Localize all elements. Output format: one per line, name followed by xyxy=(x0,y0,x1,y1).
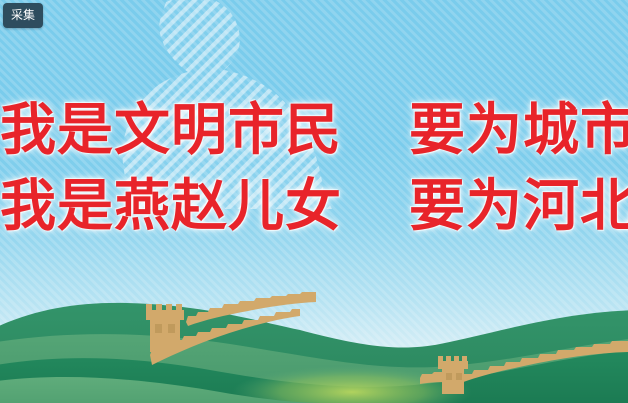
slogan-line-1: 我是文明市民 要为城市争光 xyxy=(0,100,628,162)
banner-screenshot: 我是文明市民 要为城市争光 我是燕赵儿女 要为河北争气 采集 xyxy=(0,0,628,403)
slogan-line-2: 我是燕赵儿女 要为河北争气 xyxy=(0,176,628,238)
slogan-line-2-left: 我是燕赵儿女 xyxy=(0,176,342,238)
slogan-line-1-right: 要为城市争光 xyxy=(409,100,628,162)
slogan-line-2-right: 要为河北争气 xyxy=(409,176,628,238)
capture-button[interactable]: 采集 xyxy=(3,3,43,28)
slogan-line-1-left: 我是文明市民 xyxy=(0,100,342,162)
